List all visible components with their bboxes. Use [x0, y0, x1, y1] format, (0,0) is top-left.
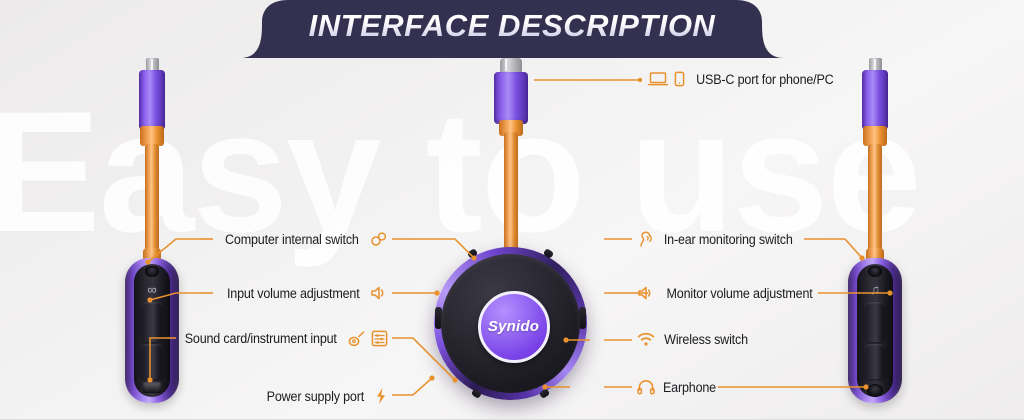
callout-label: Power supply port [267, 389, 364, 404]
mixer-icon [371, 330, 388, 347]
callout-label: Input volume adjustment [227, 286, 360, 301]
bottom-left-nub [471, 388, 482, 399]
brand-logo-text: Synido [488, 318, 539, 335]
usb-plug-body [139, 70, 165, 130]
callout-sound-card-instrument-input: Sound card/instrument input [0, 330, 388, 347]
bottom-right-nub [539, 388, 550, 399]
cable-entry-hole [145, 266, 159, 277]
monitor-volume-up-button[interactable] [864, 302, 886, 342]
guitar-icon [348, 331, 365, 347]
monitor-volume-down-button[interactable] [864, 344, 886, 379]
laptop-icon [648, 71, 668, 87]
callout-monitor-volume-adjustment: Monitor volume adjustment [637, 285, 818, 301]
callout-label: Computer internal switch [225, 232, 359, 247]
title-banner: INTERFACE DESCRIPTION [0, 0, 1024, 58]
callout-computer-internal-switch: Computer internal switch [0, 231, 388, 247]
speaker-icon [370, 285, 388, 301]
usb-c-connector-body [494, 72, 528, 124]
headphone-icon [637, 379, 655, 395]
callout-label: Monitor volume adjustment [666, 286, 812, 301]
page-title: INTERFACE DESCRIPTION [0, 0, 1024, 52]
right-side-nub [579, 307, 586, 329]
leader-power-port [392, 378, 432, 395]
callout-earphone: Earphone [637, 379, 718, 395]
callout-power-supply-port: Power supply port [0, 387, 388, 405]
wifi-icon [637, 332, 655, 347]
callout-label: Earphone [663, 380, 716, 395]
callout-in-ear-monitoring-switch: In-ear monitoring switch [637, 231, 798, 248]
speaker-icon [637, 285, 655, 301]
callout-usb-c: USB-C port for phone/PC [648, 71, 839, 87]
bolt-icon [374, 387, 388, 405]
usb-plug-collar [863, 126, 887, 146]
cable-entry-hole [868, 266, 882, 277]
volume-down-button[interactable] [141, 344, 163, 379]
usb-plug-collar [140, 126, 164, 146]
loop-switch-icon [370, 231, 388, 247]
ear-icon [637, 231, 653, 248]
center-device-top-view [483, 58, 539, 258]
phone-icon [674, 71, 685, 87]
device-body: ♫ [848, 258, 902, 403]
callout-label: In-ear monitoring switch [664, 232, 793, 247]
right-device-side-view: ♫ [845, 58, 905, 403]
callout-label: Sound card/instrument input [184, 331, 336, 346]
ear-monitor-icon: ♫ [866, 282, 884, 298]
infographic-canvas: Easy to use ∞ Synido [0, 0, 1024, 420]
earphone-jack [867, 384, 883, 397]
audio-interface-puck: Synido [434, 247, 587, 400]
orange-cable [868, 144, 882, 254]
orange-cable [504, 132, 518, 250]
callout-input-volume-adjustment: Input volume adjustment [0, 285, 388, 301]
usb-plug-body [862, 70, 888, 130]
callout-label: USB-C port for phone/PC [696, 72, 833, 87]
callout-wireless-switch: Wireless switch [637, 332, 751, 347]
callout-label: Wireless switch [664, 332, 748, 347]
center-brand-button[interactable]: Synido [478, 291, 550, 363]
